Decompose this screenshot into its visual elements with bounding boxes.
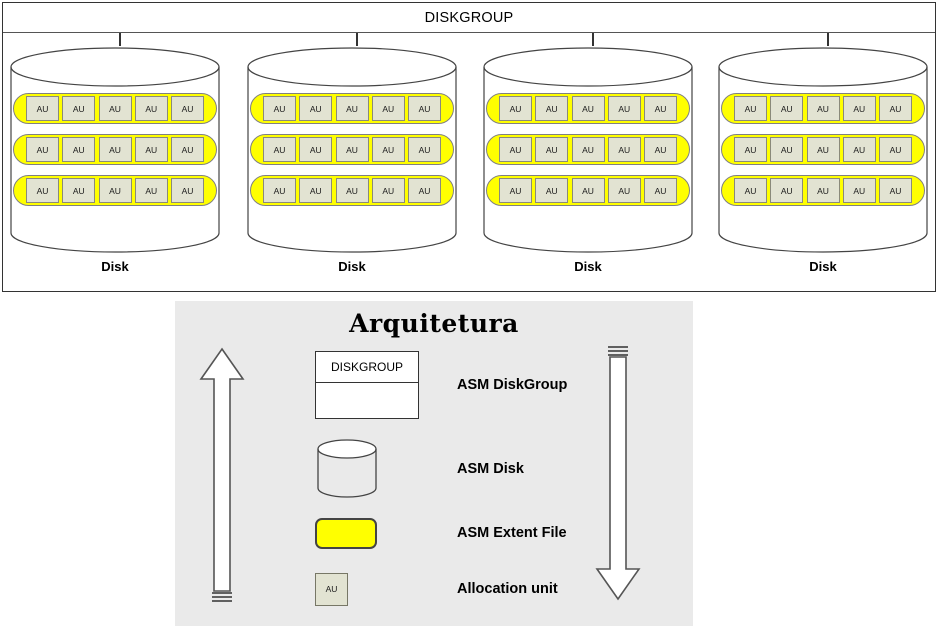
diskgroup-header-label: DISKGROUP (425, 10, 514, 26)
extent-file-bar: AU AU AU AU AU (721, 93, 925, 124)
disk-caption: Disk (717, 259, 929, 274)
allocation-unit: AU (336, 96, 369, 121)
allocation-unit: AU (171, 96, 204, 121)
allocation-unit: AU (572, 178, 605, 203)
allocation-unit: AU (499, 137, 532, 162)
disk-extent-rows: AU AU AU AU AU AU AU AU AU AU AU AU AU A… (721, 93, 925, 216)
legend-label-disk: ASM Disk (457, 461, 524, 477)
allocation-unit: AU (263, 178, 296, 203)
disk-extent-rows: AU AU AU AU AU AU AU AU AU AU AU AU AU A… (486, 93, 690, 216)
allocation-unit: AU (843, 137, 876, 162)
allocation-unit: AU (99, 137, 132, 162)
extent-file-bar: AU AU AU AU AU (13, 175, 217, 206)
legend-label-extent-file: ASM Extent File (457, 525, 567, 541)
allocation-unit: AU (372, 178, 405, 203)
extent-file-bar: AU AU AU AU AU (721, 175, 925, 206)
allocation-unit: AU (372, 96, 405, 121)
legend-au-swatch: AU (315, 573, 348, 606)
extent-file-bar: AU AU AU AU AU (250, 93, 454, 124)
disk-column: AU AU AU AU AU AU AU AU AU AU AU AU AU A… (9, 33, 231, 291)
disk-caption: Disk (246, 259, 458, 274)
extent-file-bar: AU AU AU AU AU (250, 175, 454, 206)
allocation-unit: AU (807, 178, 840, 203)
disk-caption: Disk (9, 259, 221, 274)
allocation-unit: AU (734, 137, 767, 162)
extent-file-bar: AU AU AU AU AU (250, 134, 454, 165)
extent-file-bar: AU AU AU AU AU (13, 134, 217, 165)
allocation-unit: AU (99, 96, 132, 121)
allocation-unit: AU (171, 137, 204, 162)
allocation-unit: AU (879, 137, 912, 162)
allocation-unit: AU (62, 96, 95, 121)
allocation-unit: AU (535, 178, 568, 203)
diskgroup-panel: DISKGROUP AU AU AU AU AU AU AU AU (2, 2, 936, 292)
allocation-unit: AU (644, 96, 677, 121)
up-arrow-icon (197, 345, 247, 608)
allocation-unit: AU (535, 137, 568, 162)
allocation-unit: AU (299, 96, 332, 121)
disk-extent-rows: AU AU AU AU AU AU AU AU AU AU AU AU AU A… (13, 93, 217, 216)
legend-title: Arquitetura (175, 309, 693, 338)
allocation-unit: AU (263, 96, 296, 121)
allocation-unit: AU (608, 178, 641, 203)
allocation-unit: AU (299, 137, 332, 162)
allocation-unit: AU (99, 178, 132, 203)
allocation-unit: AU (572, 96, 605, 121)
disk-column: AU AU AU AU AU AU AU AU AU AU AU AU AU A… (717, 33, 939, 291)
allocation-unit: AU (26, 178, 59, 203)
allocation-unit: AU (408, 137, 441, 162)
disk-extent-rows: AU AU AU AU AU AU AU AU AU AU AU AU AU A… (250, 93, 454, 216)
allocation-unit: AU (572, 137, 605, 162)
allocation-unit: AU (807, 137, 840, 162)
allocation-unit: AU (843, 178, 876, 203)
disk-caption: Disk (482, 259, 694, 274)
allocation-unit: AU (336, 137, 369, 162)
allocation-unit: AU (879, 178, 912, 203)
legend-symbol-disk-cylinder (315, 438, 435, 500)
allocation-unit: AU (171, 178, 204, 203)
allocation-unit: AU (608, 96, 641, 121)
allocation-unit: AU (535, 96, 568, 121)
allocation-unit: AU (499, 96, 532, 121)
allocation-unit: AU (770, 178, 803, 203)
allocation-unit: AU (843, 96, 876, 121)
allocation-unit: AU (62, 137, 95, 162)
allocation-unit: AU (408, 178, 441, 203)
legend-label-allocation-unit: Allocation unit (457, 581, 558, 597)
allocation-unit: AU (644, 178, 677, 203)
allocation-unit: AU (499, 178, 532, 203)
legend-extent-swatch (315, 518, 377, 549)
allocation-unit: AU (263, 137, 296, 162)
disk-column: AU AU AU AU AU AU AU AU AU AU AU AU AU A… (246, 33, 468, 291)
legend-item-allocation-unit: AU Allocation unit (315, 566, 675, 612)
allocation-unit: AU (770, 137, 803, 162)
allocation-unit: AU (879, 96, 912, 121)
legend-symbol-extent-file (315, 518, 435, 549)
legend-panel: Arquitetura DISKGROUP ASM DiskGroup (175, 301, 693, 626)
allocation-unit: AU (734, 96, 767, 121)
extent-file-bar: AU AU AU AU AU (486, 93, 690, 124)
extent-file-bar: AU AU AU AU AU (721, 134, 925, 165)
legend-item-disk: ASM Disk (315, 436, 675, 502)
legend-label-diskgroup: ASM DiskGroup (457, 377, 567, 393)
allocation-unit: AU (62, 178, 95, 203)
legend-item-diskgroup: DISKGROUP ASM DiskGroup (315, 349, 675, 421)
diskgroup-header-bar: DISKGROUP (3, 3, 935, 33)
allocation-unit: AU (135, 137, 168, 162)
allocation-unit: AU (770, 96, 803, 121)
extent-file-bar: AU AU AU AU AU (486, 134, 690, 165)
allocation-unit: AU (608, 137, 641, 162)
extent-file-bar: AU AU AU AU AU (486, 175, 690, 206)
legend-symbol-allocation-unit: AU (315, 573, 435, 606)
allocation-unit: AU (26, 137, 59, 162)
legend-symbol-diskgroup-box: DISKGROUP (315, 351, 435, 419)
allocation-unit: AU (26, 96, 59, 121)
allocation-unit: AU (299, 178, 332, 203)
allocation-unit: AU (135, 96, 168, 121)
allocation-unit: AU (408, 96, 441, 121)
legend-diskgroup-inner-label: DISKGROUP (316, 352, 418, 383)
legend-item-extent-file: ASM Extent File (315, 513, 675, 553)
allocation-unit: AU (644, 137, 677, 162)
allocation-unit: AU (135, 178, 168, 203)
allocation-unit: AU (372, 137, 405, 162)
extent-file-bar: AU AU AU AU AU (13, 93, 217, 124)
allocation-unit: AU (336, 178, 369, 203)
allocation-unit: AU (734, 178, 767, 203)
disk-column: AU AU AU AU AU AU AU AU AU AU AU AU AU A… (482, 33, 704, 291)
allocation-unit: AU (807, 96, 840, 121)
